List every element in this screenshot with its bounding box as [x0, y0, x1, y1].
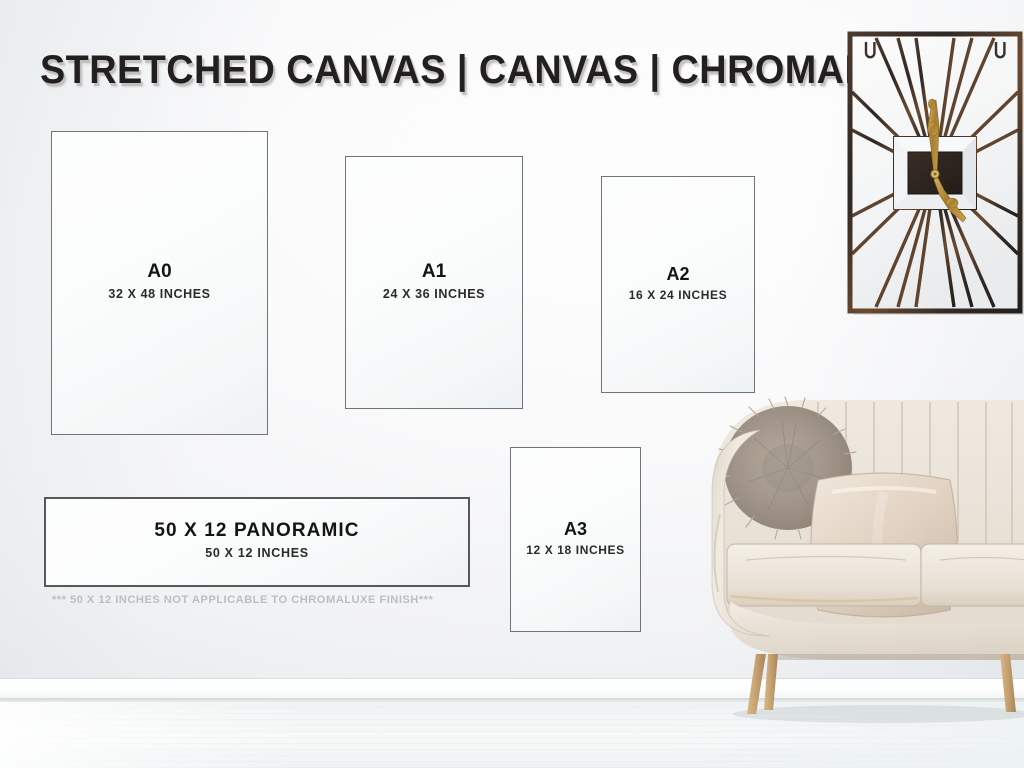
- room-scene: STRETCHED CANVAS | CANVAS | CHROMALUXE A…: [0, 0, 1024, 768]
- frame-label-group-a3: A3 12 X 18 INCHES: [511, 520, 640, 558]
- frame-dimensions-a3: 12 X 18 INCHES: [511, 544, 640, 558]
- sofa-illustration: [668, 396, 1024, 740]
- frame-name-a0: A0: [52, 262, 267, 282]
- frame-dimensions-panoramic: 50 X 12 INCHES: [46, 546, 468, 560]
- size-frame-a3[interactable]: A3 12 X 18 INCHES: [510, 447, 641, 632]
- frame-dimensions-a2: 16 X 24 INCHES: [602, 289, 754, 303]
- frame-label-group-panoramic: 50 X 12 PANORAMIC 50 X 12 INCHES: [46, 521, 468, 560]
- frame-dimensions-a0: 32 X 48 INCHES: [52, 287, 267, 301]
- frame-dimensions-a1: 24 X 36 INCHES: [346, 287, 522, 301]
- frame-label-group-a1: A1 24 X 36 INCHES: [346, 262, 522, 301]
- wall-clock-icon: [846, 30, 1024, 315]
- size-frame-a2[interactable]: A2 16 X 24 INCHES: [601, 176, 755, 393]
- frame-label-group-a0: A0 32 X 48 INCHES: [52, 262, 267, 301]
- frame-name-a1: A1: [346, 262, 522, 282]
- panoramic-disclaimer: *** 50 X 12 INCHES NOT APPLICABLE TO CHR…: [52, 594, 433, 606]
- frame-name-a2: A2: [602, 265, 754, 284]
- frame-name-panoramic: 50 X 12 PANORAMIC: [46, 521, 468, 541]
- frame-name-a3: A3: [511, 520, 640, 539]
- size-frame-a1[interactable]: A1 24 X 36 INCHES: [345, 156, 523, 409]
- page-title: STRETCHED CANVAS | CANVAS | CHROMALUXE: [40, 48, 947, 93]
- frame-label-group-a2: A2 16 X 24 INCHES: [602, 265, 754, 303]
- size-frame-panoramic[interactable]: 50 X 12 PANORAMIC 50 X 12 INCHES: [44, 497, 470, 587]
- size-frame-a0[interactable]: A0 32 X 48 INCHES: [51, 131, 268, 435]
